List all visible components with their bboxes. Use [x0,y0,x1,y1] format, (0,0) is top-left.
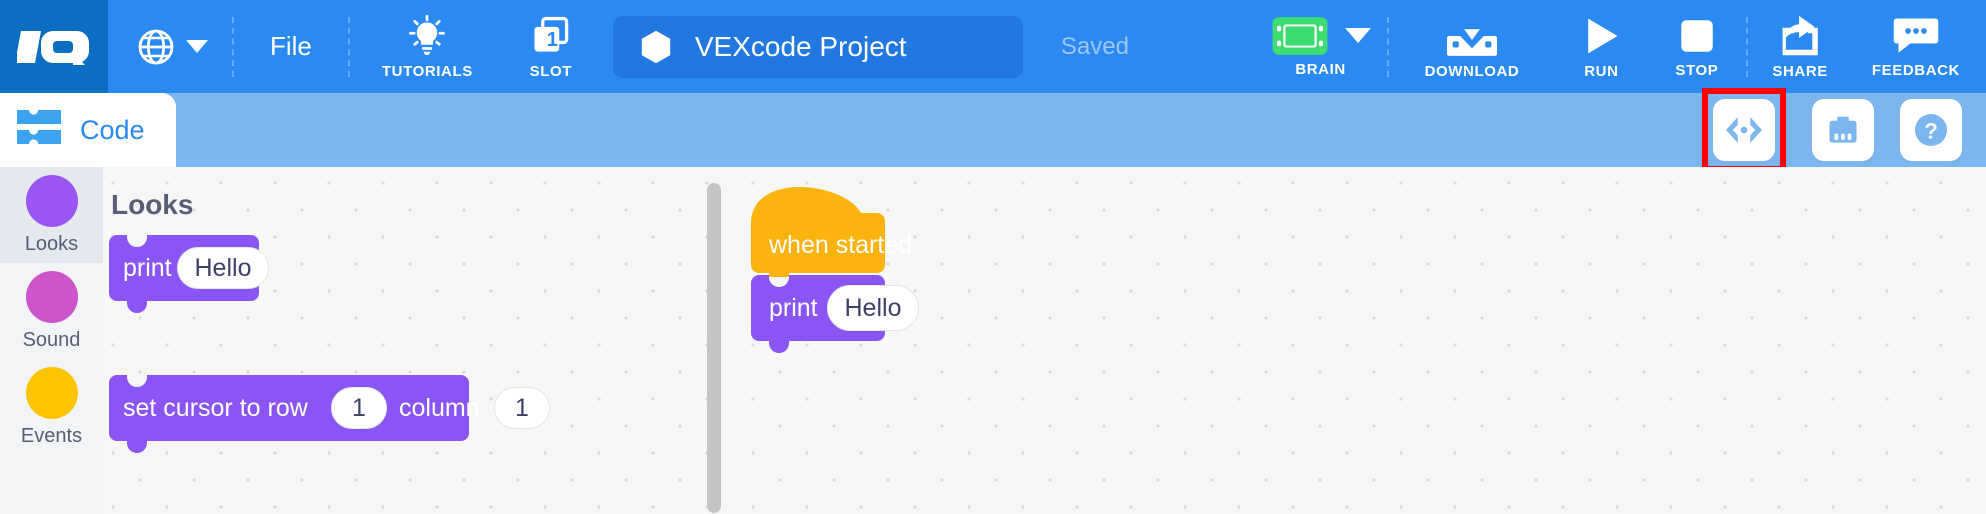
events-color-dot [26,367,78,419]
blocks-icon [14,106,66,154]
top-toolbar: File TUTORIALS 1 SLOT [0,0,1986,93]
slot-selector[interactable]: 1 SLOT [503,0,599,93]
when-started-label: when started [769,231,912,260]
looks-color-dot [26,175,78,227]
project-name-field[interactable]: VEXcode Project [613,16,1023,78]
palette-print-text-field[interactable]: Hello [177,247,269,289]
slot-number-text: 1 [547,28,558,50]
run-button[interactable]: RUN [1553,0,1649,93]
category-events[interactable]: Events [0,359,103,455]
sound-color-dot [26,271,78,323]
chevron-down-icon [186,40,208,53]
brain-label: BRAIN [1295,61,1346,78]
workspace-print-label: print [769,294,818,323]
toolbar-divider [232,17,234,77]
palette-print-block[interactable]: print Hello [109,235,259,322]
toolbar-spacer [1129,0,1271,93]
language-selector[interactable] [108,0,230,93]
save-status: Saved [1061,33,1129,61]
file-menu-button[interactable]: File [236,0,346,93]
chevron-down-icon [1345,28,1371,43]
robot-device-icon [1825,112,1861,148]
svg-text:?: ? [1924,119,1938,144]
workspace-print-text-field[interactable]: Hello [827,285,919,331]
category-looks-label: Looks [25,233,78,256]
palette-row-field[interactable]: 1 [331,387,387,429]
category-sidebar: Looks Sound Events [0,167,103,514]
view-buttons-group: ? [1702,93,1962,167]
palette-category-title: Looks [111,189,193,221]
run-label: RUN [1584,63,1618,80]
slot-label: SLOT [530,63,572,80]
play-icon [1579,14,1623,58]
workspace-print-block[interactable]: print Hello [751,275,885,362]
category-sound[interactable]: Sound [0,263,103,359]
toolbar-divider [1387,17,1389,77]
vex-iq-logo[interactable] [0,0,108,93]
palette-set-cursor-label: set cursor to row [123,394,308,423]
palette-print-label: print [123,254,172,283]
palette-scrollbar[interactable] [707,183,721,513]
globe-icon [136,27,176,67]
code-brackets-icon [1724,113,1764,147]
workspace-print-field-value: Hello [845,294,902,323]
share-label: SHARE [1772,63,1828,80]
download-label: DOWNLOAD [1425,63,1520,80]
palette-set-cursor-block[interactable]: set cursor to row 1 column 1 [109,375,469,462]
palette-column-label: column [399,394,480,423]
toolbar-divider [348,17,350,77]
feedback-label: FEEDBACK [1872,62,1960,79]
category-looks[interactable]: Looks [0,167,103,263]
mode-bar: Code ? [0,93,1986,167]
tutorials-button[interactable]: TUTORIALS [352,0,503,93]
device-config-button[interactable] [1812,99,1874,161]
palette-print-field-value: Hello [195,254,252,283]
download-button[interactable]: DOWNLOAD [1391,0,1554,93]
toolbar-divider [1746,17,1748,77]
palette-row-value: 1 [352,394,366,423]
category-events-label: Events [21,425,82,448]
palette-column-field[interactable]: 1 [494,387,550,429]
block-palette[interactable]: Looks print Hello set cursor to row 1 co… [103,167,725,514]
tab-code[interactable]: Code [0,93,176,167]
tutorials-label: TUTORIALS [382,63,473,80]
iq-logo-icon [17,27,91,67]
share-icon [1777,14,1823,58]
brain-selector[interactable]: BRAIN [1271,0,1385,93]
file-menu-label: File [270,31,312,62]
question-mark-icon: ? [1911,110,1951,150]
stop-button[interactable]: STOP [1649,0,1744,93]
help-button[interactable]: ? [1900,99,1962,161]
category-sound-label: Sound [23,329,81,352]
project-name-text: VEXcode Project [695,31,907,63]
brain-device-icon [1271,16,1329,56]
when-started-block[interactable]: when started [751,187,885,282]
lightbulb-icon [405,14,449,58]
code-view-highlight [1702,88,1786,172]
slot-stack-icon: 1 [529,14,573,58]
share-button[interactable]: SHARE [1750,0,1850,93]
feedback-button[interactable]: FEEDBACK [1850,0,1986,93]
code-workspace[interactable]: when started print Hello [735,167,1986,514]
tab-code-label: Code [80,115,145,146]
palette-column-value: 1 [515,394,529,423]
stop-label: STOP [1675,62,1718,79]
toggle-code-view-button[interactable] [1713,99,1775,161]
comment-dots-icon [1893,15,1939,57]
main-area: Looks Sound Events Looks print Hello [0,167,1986,514]
stop-square-icon [1676,15,1718,57]
download-icon [1447,14,1497,58]
hexagon-icon [639,28,673,66]
